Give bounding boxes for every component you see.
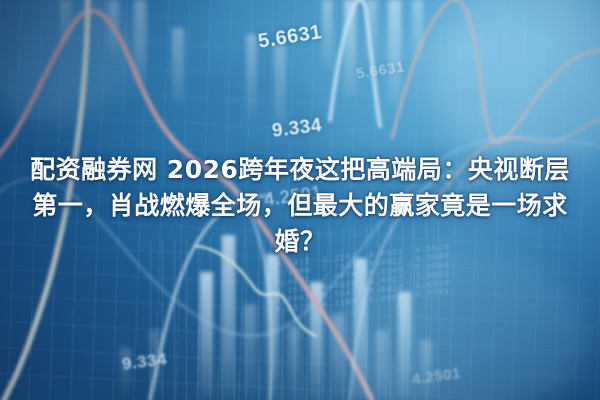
headline-overlay: 配资融券网 2026跨年夜这把高端局：央视断层 第一，肖战燃爆全场，但最大的赢家… (0, 152, 600, 260)
headline-line-2: 第一，肖战燃爆全场，但最大的赢家竟是一场求婚？ (8, 188, 592, 260)
banner-image: 0.3412 1.2207 8.0031 4.5520 2.1908 7.734… (0, 0, 600, 400)
headline-line-1: 配资融券网 2026跨年夜这把高端局：央视断层 (30, 155, 570, 184)
